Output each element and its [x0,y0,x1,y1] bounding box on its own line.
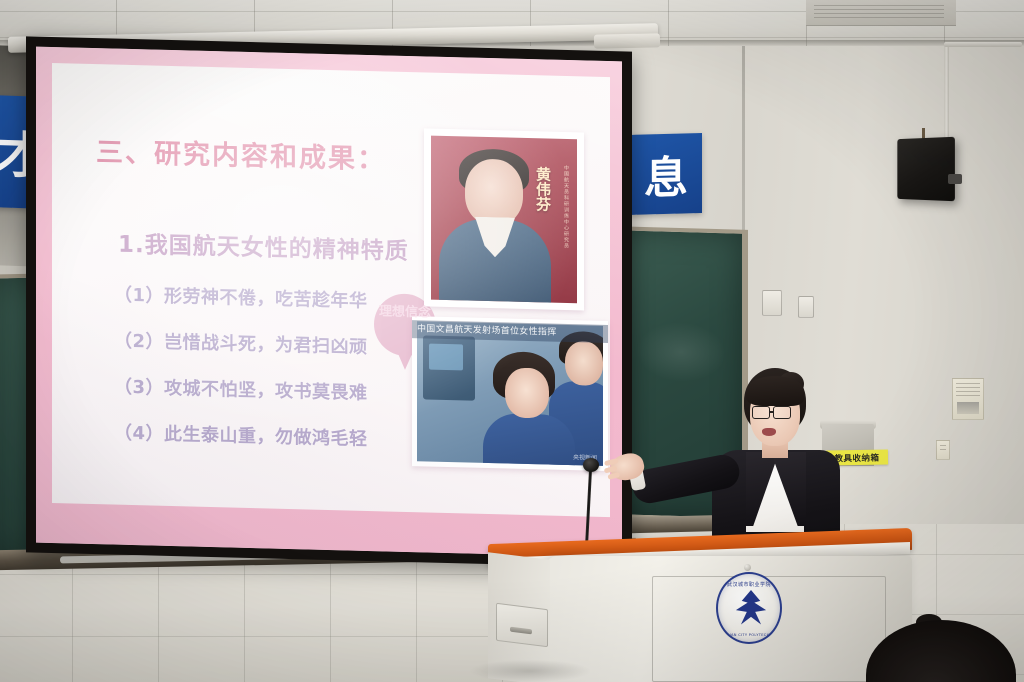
portrait-face [465,158,523,225]
portrait-photo: 黄伟芬 中国航天员科研训练中心研究员 [424,128,584,310]
list-item: （1）形劳神不倦，吃苦趁年华 [114,281,368,313]
portrait-side-text: 中国航天员科研训练中心研究员 [563,165,569,275]
list-item: （3）攻城不怕坚，攻书莫畏难 [114,373,368,405]
speaker-bracket [948,174,962,184]
wall-sign-right: 息 [630,133,702,215]
presenter-mouth [762,428,776,436]
slide-content-area: 三、研究内容和成果： 1.我国航天女性的精神特质 （1）形劳神不倦，吃苦趁年华 … [52,63,610,517]
wall-outlet-upper-2[interactable] [798,296,814,318]
glasses-bridge [769,411,774,413]
list-item: （2）岂惜战斗死，为君扫凶顽 [114,327,368,359]
microphone-icon[interactable] [583,458,599,472]
emblem-top-text: 武汉城市职业学院 [718,581,780,588]
podium-shadow [470,660,590,682]
glasses-lens-right [773,406,791,419]
wall-notice-small [936,440,950,460]
console-person-2-face [565,341,603,386]
podium-drawer[interactable] [496,603,548,647]
presenter-hair-front [746,376,804,406]
console-person-1-face [505,367,549,418]
list-item: （4）此生泰山重，勿做鸿毛轻 [114,419,368,451]
emblem-mount-screw [744,564,751,571]
glasses-icon [752,406,770,419]
pin-badge-label: 理想信念 [374,303,436,322]
slide: 三、研究内容和成果： 1.我国航天女性的精神特质 （1）形劳神不倦，吃苦趁年华 … [36,47,622,558]
projection-screen: 三、研究内容和成果： 1.我国航天女性的精神特质 （1）形劳神不倦，吃苦趁年华 … [36,47,622,558]
screen-roller-cap [594,33,660,48]
wall-conduit-horizontal [944,42,1022,47]
slide-bullet-list: （1）形劳神不倦，吃苦趁年华 （2）岂惜战斗死，为君扫凶顽 （3）攻城不怕坚，攻… [114,281,368,471]
emblem-mark [730,590,772,632]
emblem-bottom-text: WUHAN CITY POLYTECHNIC [718,633,780,637]
console-person-1-body [483,413,575,466]
classroom-scene: 才 息 教具收纳箱 三、研究内容和成果： 1.我国航天女性的精神特质 （1）形劳… [0,0,1024,682]
wall-speaker-icon [897,137,955,201]
portrait-name-label: 黄伟芬 [534,166,551,211]
slide-subtitle: 1.我国航天女性的精神特质 [118,225,409,266]
ceiling-vent [806,0,956,26]
slide-title: 三、研究内容和成果： [96,130,386,176]
console-screen-glow [429,344,463,371]
school-emblem-icon: 武汉城市职业学院 WUHAN CITY POLYTECHNIC [716,572,782,644]
wall-outlet-upper[interactable] [762,290,782,316]
wall-notice-large [952,378,984,420]
